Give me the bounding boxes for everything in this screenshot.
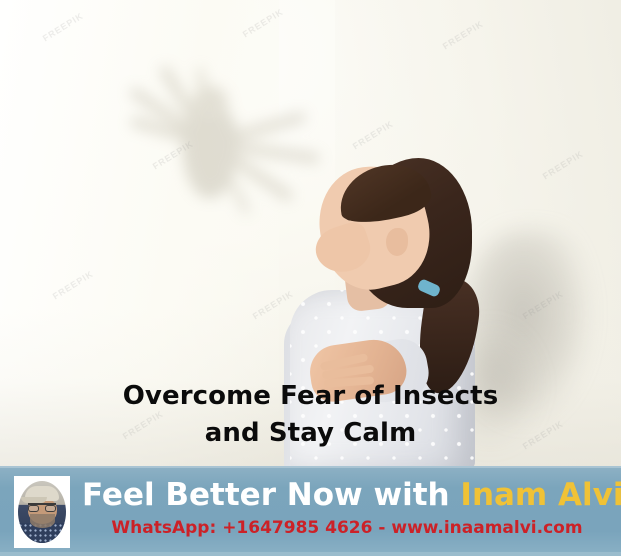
watermark: FREEPIK	[521, 289, 565, 322]
avatar-glasses-left-lens	[28, 505, 39, 512]
hero-photo: FREEPIK FREEPIK FREEPIK FREEPIK FREEPIK …	[0, 0, 621, 466]
avatar-glasses-icon	[28, 503, 56, 509]
headline-line-1: Overcome Fear of Insects	[0, 378, 621, 415]
headline: Overcome Fear of Insects and Stay Calm	[0, 378, 621, 452]
poster-root: FREEPIK FREEPIK FREEPIK FREEPIK FREEPIK …	[0, 0, 621, 556]
avatar-glasses-right-lens	[45, 505, 56, 512]
brand-line: Feel Better Now with Inam Alvi	[82, 474, 612, 516]
watermark: FREEPIK	[41, 11, 85, 44]
watermark: FREEPIK	[441, 19, 485, 52]
girl-ear	[386, 228, 408, 256]
watermark: FREEPIK	[351, 119, 395, 152]
banner-bottom-strip	[0, 552, 621, 556]
contact-banner: Feel Better Now with Inam Alvi WhatsApp:…	[0, 466, 621, 556]
brand-name: Inam Alvi	[460, 477, 621, 513]
brand-prefix: Feel Better Now with	[82, 477, 460, 513]
avatar-beard	[30, 514, 55, 528]
headline-line-2: and Stay Calm	[0, 415, 621, 452]
watermark: FREEPIK	[51, 269, 95, 302]
contact-line: WhatsApp: +1647985 4626 - www.inaamalvi.…	[82, 518, 612, 538]
watermark: FREEPIK	[541, 149, 585, 182]
watermark: FREEPIK	[241, 7, 285, 40]
avatar	[14, 476, 70, 548]
avatar-photo	[18, 481, 66, 543]
